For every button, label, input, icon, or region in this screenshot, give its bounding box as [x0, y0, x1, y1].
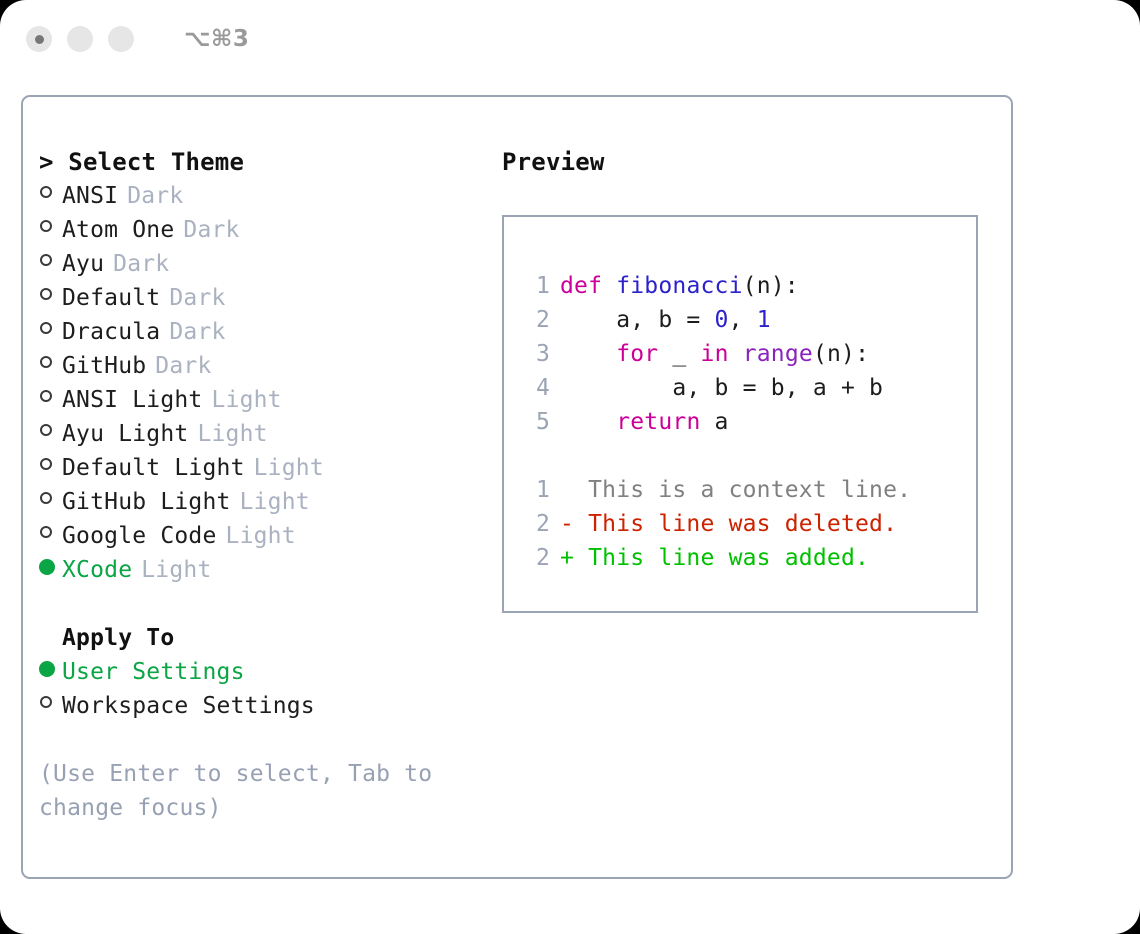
code-line: 5 return a: [522, 405, 976, 439]
code-diff-gap: [522, 439, 976, 473]
theme-option-github[interactable]: GitHubDark: [39, 349, 489, 383]
diff-content: - This line was deleted.: [560, 507, 897, 541]
window-titlebar: ⌥⌘3: [0, 0, 1140, 78]
apply-to-option-list[interactable]: User SettingsWorkspace Settings: [39, 655, 489, 723]
token-pl: a, b =: [560, 307, 715, 333]
theme-option-default[interactable]: DefaultDark: [39, 281, 489, 315]
apply-to-option-label: Workspace Settings: [62, 689, 315, 723]
diff-line: 1 This is a context line.: [522, 473, 976, 507]
theme-option-label: ANSI Light: [62, 383, 202, 417]
theme-option-list[interactable]: ANSIDarkAtom OneDarkAyuDarkDefaultDarkDr…: [39, 179, 489, 587]
apply-to-option-label: User Settings: [62, 655, 245, 689]
theme-option-label: GitHub: [62, 349, 146, 383]
token-bi: range: [743, 341, 813, 367]
code-line: 1def fibonacci(n):: [522, 269, 976, 303]
apply-to-label: Apply To: [62, 621, 174, 655]
theme-option-label: Ayu: [62, 247, 104, 281]
window-dot-3[interactable]: [108, 26, 134, 52]
token-kw: return: [616, 409, 700, 435]
line-number: 1: [522, 269, 550, 303]
theme-option-label: Atom One: [62, 213, 174, 247]
theme-option-kind-badge: Light: [240, 485, 310, 519]
theme-option-dracula[interactable]: DraculaDark: [39, 315, 489, 349]
preview-code-box: 1def fibonacci(n):2 a, b = 0, 13 for _ i…: [502, 215, 978, 613]
diff-content: + This line was added.: [560, 541, 869, 575]
theme-option-xcode[interactable]: XCodeLight: [39, 553, 489, 587]
line-number: 1: [522, 473, 550, 507]
theme-option-ansi-light[interactable]: ANSI LightLight: [39, 383, 489, 417]
theme-option-label: Default Light: [62, 451, 245, 485]
theme-option-github-light[interactable]: GitHub LightLight: [39, 485, 489, 519]
code-content: for _ in range(n):: [560, 337, 869, 371]
theme-option-default-light[interactable]: Default LightLight: [39, 451, 489, 485]
theme-option-label: ANSI: [62, 179, 118, 213]
token-fn: fibonacci: [616, 273, 742, 299]
keyboard-hint-text: (Use Enter to select, Tab to change focu…: [39, 757, 459, 825]
theme-option-label: Dracula: [62, 315, 160, 349]
theme-option-kind-badge: Dark: [155, 349, 211, 383]
theme-option-label: Ayu Light: [62, 417, 188, 451]
theme-option-kind-badge: Light: [197, 417, 267, 451]
line-number: 4: [522, 371, 550, 405]
token-num: 1: [757, 307, 771, 333]
app-window: ⌥⌘3 > Select Theme ANSIDarkAtom OneDarkA…: [0, 0, 1140, 934]
theme-option-kind-badge: Dark: [169, 281, 225, 315]
theme-option-kind-badge: Dark: [183, 213, 239, 247]
select-theme-heading: > Select Theme: [39, 145, 489, 179]
token-kw: in: [701, 341, 729, 367]
theme-option-kind-badge: Dark: [127, 179, 183, 213]
keyboard-shortcut-label: ⌥⌘3: [184, 26, 249, 52]
diff-line: 2- This line was deleted.: [522, 507, 976, 541]
diff-line: 2+ This line was added.: [522, 541, 976, 575]
theme-option-ayu[interactable]: AyuDark: [39, 247, 489, 281]
code-content: a, b = 0, 1: [560, 303, 771, 337]
apply-to-option-workspace-settings[interactable]: Workspace Settings: [39, 689, 489, 723]
code-content: def fibonacci(n):: [560, 269, 799, 303]
theme-option-atom-one[interactable]: Atom OneDark: [39, 213, 489, 247]
diff-sample: 1 This is a context line.2- This line wa…: [522, 473, 976, 575]
token-kw: for: [616, 341, 658, 367]
theme-option-kind-badge: Light: [254, 451, 324, 485]
token-add: + This line was added.: [560, 545, 869, 571]
window-dot-2[interactable]: [67, 26, 93, 52]
token-pl: ,: [729, 307, 757, 333]
token-del: - This line was deleted.: [560, 511, 897, 537]
token-pl: _: [658, 341, 700, 367]
theme-option-label: Default: [62, 281, 160, 315]
token-pl: [729, 341, 743, 367]
theme-option-ayu-light[interactable]: Ayu LightLight: [39, 417, 489, 451]
theme-option-ansi[interactable]: ANSIDark: [39, 179, 489, 213]
theme-option-google-code[interactable]: Google CodeLight: [39, 519, 489, 553]
line-number: 2: [522, 303, 550, 337]
diff-content: This is a context line.: [560, 473, 911, 507]
window-dot-1[interactable]: [26, 26, 52, 52]
token-pl: (n):: [743, 273, 799, 299]
theme-option-kind-badge: Light: [141, 553, 211, 587]
preview-heading: Preview: [502, 145, 992, 179]
theme-option-kind-badge: Light: [211, 383, 281, 417]
token-num: 0: [715, 307, 729, 333]
token-pl: [560, 409, 616, 435]
token-ctx: This is a context line.: [560, 477, 911, 503]
theme-option-label: Google Code: [62, 519, 217, 553]
apply-to-heading: Apply To: [39, 621, 489, 655]
code-content: a, b = b, a + b: [560, 371, 883, 405]
code-content: return a: [560, 405, 729, 439]
token-kw: def: [560, 273, 616, 299]
code-sample: 1def fibonacci(n):2 a, b = 0, 13 for _ i…: [522, 269, 976, 439]
token-pl: a, b = b, a + b: [560, 375, 883, 401]
line-number: 3: [522, 337, 550, 371]
theme-selector-dialog: > Select Theme ANSIDarkAtom OneDarkAyuDa…: [21, 95, 1013, 879]
theme-option-kind-badge: Light: [226, 519, 296, 553]
line-number: 5: [522, 405, 550, 439]
line-number: 2: [522, 541, 550, 575]
token-pl: a: [701, 409, 729, 435]
theme-option-kind-badge: Dark: [169, 315, 225, 349]
theme-list-panel: > Select Theme ANSIDarkAtom OneDarkAyuDa…: [39, 145, 489, 825]
code-line: 3 for _ in range(n):: [522, 337, 976, 371]
code-line: 4 a, b = b, a + b: [522, 371, 976, 405]
theme-option-label: GitHub Light: [62, 485, 231, 519]
line-number: 2: [522, 507, 550, 541]
preview-panel: Preview 1def fibonacci(n):2 a, b = 0, 13…: [502, 145, 992, 613]
apply-to-option-user-settings[interactable]: User Settings: [39, 655, 489, 689]
token-pl: [560, 341, 616, 367]
theme-option-label: XCode: [62, 553, 132, 587]
code-line: 2 a, b = 0, 1: [522, 303, 976, 337]
theme-option-kind-badge: Dark: [113, 247, 169, 281]
token-pl: (n):: [813, 341, 869, 367]
list-spacer: [39, 587, 489, 621]
